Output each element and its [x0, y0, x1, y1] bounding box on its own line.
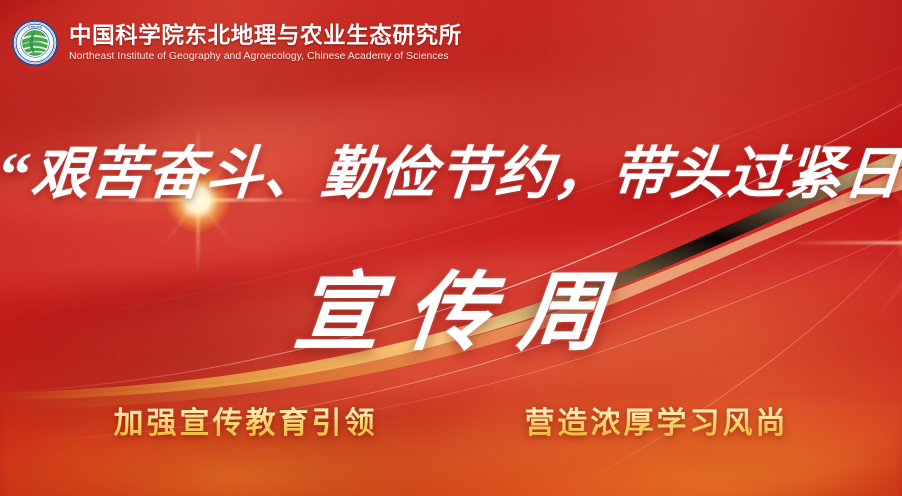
- institute-header: 中国科学院 中国科学院东北地理与农业生态研究所 Northeast Instit…: [12, 20, 462, 66]
- headline-text: 艰苦奋斗、勤俭节约，带头过紧日子: [29, 143, 902, 206]
- headline: “艰苦奋斗、勤俭节约，带头过紧日子”: [0, 128, 902, 211]
- institute-name-cn: 中国科学院东北地理与农业生态研究所: [69, 23, 462, 48]
- institute-name-en: Northeast Institute of Geography and Agr…: [69, 50, 462, 64]
- slogan-left: 加强宣传教育引领: [114, 398, 378, 442]
- institute-globe-leaf-emblem-icon: 中国科学院: [12, 20, 58, 66]
- promo-banner: 中国科学院 中国科学院东北地理与农业生态研究所 Northeast Instit…: [0, 0, 902, 496]
- slogan-right: 营造浓厚学习风尚: [525, 398, 789, 442]
- flare-bottom-right: [700, 468, 902, 496]
- slogan-row: 加强宣传教育引领 营造浓厚学习风尚: [0, 398, 902, 442]
- svg-text:中国科学院: 中国科学院: [28, 26, 42, 30]
- institute-name-block: 中国科学院东北地理与农业生态研究所 Northeast Institute of…: [69, 23, 462, 64]
- flare-bottom-left: [196, 468, 666, 496]
- subline: 宣传周: [0, 242, 902, 367]
